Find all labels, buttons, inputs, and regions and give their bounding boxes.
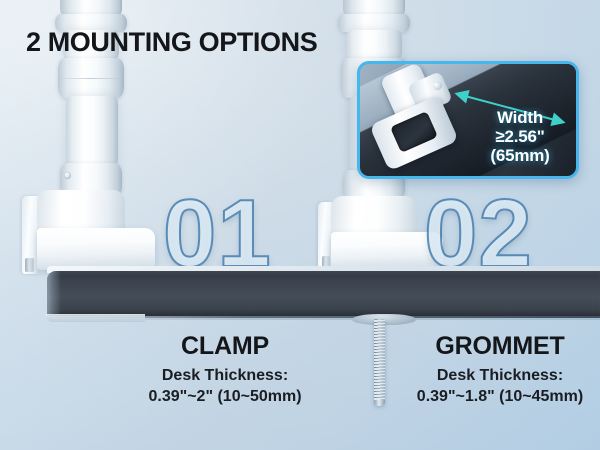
grommet-title: GROMMET — [400, 332, 600, 360]
inset-width-line3: (65mm) — [468, 146, 572, 165]
clamp-thickness-value: 0.39"~2" (10~50mm) — [120, 386, 330, 407]
pole-shaft-upper-right — [346, 30, 402, 60]
grommet-option-label: GROMMET Desk Thickness: 0.39"~1.8" (10~4… — [400, 332, 600, 407]
inset-width-line1: Width — [468, 108, 572, 127]
desk-body — [47, 271, 600, 318]
inset-width-line2: ≥2.56" — [468, 127, 572, 146]
grommet-thickness-label: Desk Thickness: — [400, 365, 600, 386]
pole-screw-left — [64, 172, 71, 179]
infographic-scene: 01 02 2 MOUNTING OPTIONS — [0, 0, 600, 450]
grommet-threaded-bolt — [374, 319, 385, 405]
clamp-thickness-label: Desk Thickness: — [120, 365, 330, 386]
grommet-bolt-tip — [374, 400, 385, 406]
clamp-title: CLAMP — [120, 332, 330, 360]
inset-width-text: Width ≥2.56" (65mm) — [468, 108, 572, 165]
desk-front-lip — [45, 314, 145, 322]
desk-edge-highlight — [47, 271, 61, 318]
page-title: 2 MOUNTING OPTIONS — [26, 27, 317, 58]
clamp-width-detail-callout: Width ≥2.56" (65mm) — [357, 61, 579, 179]
grommet-thickness-value: 0.39"~1.8" (10~45mm) — [400, 386, 600, 407]
pole-seam-left — [58, 78, 124, 79]
grommet-desk-thickness: Desk Thickness: 0.39"~1.8" (10~45mm) — [400, 365, 600, 407]
pole-shaft-lower-left — [66, 96, 118, 168]
clamp-option-label: CLAMP Desk Thickness: 0.39"~2" (10~50mm) — [120, 332, 330, 407]
clamp-adjust-knob — [25, 258, 34, 272]
desk-slab — [47, 266, 600, 320]
clamp-base-plate — [37, 228, 155, 270]
clamp-desk-thickness: Desk Thickness: 0.39"~2" (10~50mm) — [120, 365, 330, 407]
